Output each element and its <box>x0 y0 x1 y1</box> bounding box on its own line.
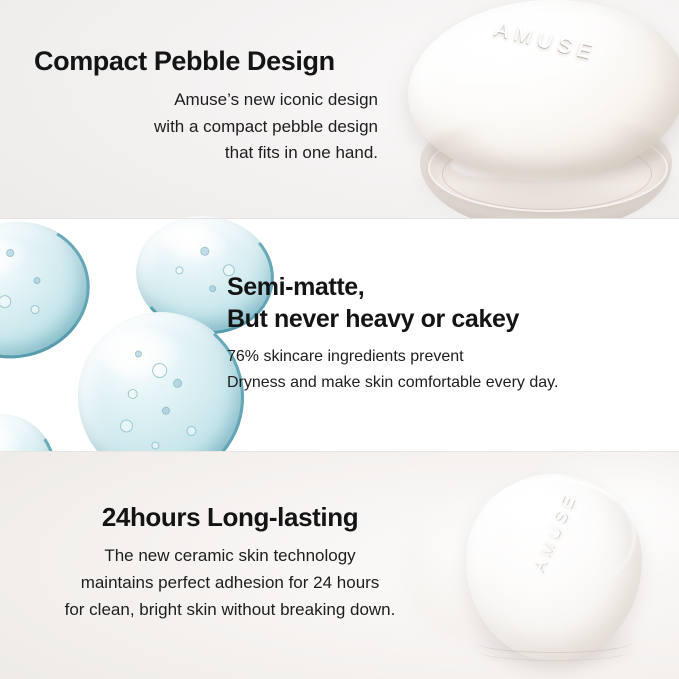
panel-1-body: Amuse’s new iconic design with a compact… <box>34 87 378 167</box>
cushion-compact-upright-image: AMUSE <box>466 474 642 660</box>
panel-divider-1 <box>0 218 679 219</box>
compact-lid-shadow-band <box>428 120 666 176</box>
gel-bubble <box>127 388 138 399</box>
panel-divider-2 <box>0 451 679 452</box>
panel-1-headline: Compact Pebble Design <box>34 44 378 78</box>
panel-2-body-line-2: Dryness and make skin comfortable every … <box>227 370 667 396</box>
panel-2-body: 76% skincare ingredients prevent Dryness… <box>227 344 667 396</box>
product-detail-image: AMUSE Compact Pebble Design Amuse’s new … <box>0 0 679 679</box>
compact-seam-ring <box>476 640 632 661</box>
panel-3-body: The new ceramic skin technology maintain… <box>18 542 442 623</box>
panel-1-body-line-1: Amuse’s new iconic design <box>34 87 378 114</box>
panel-compact-pebble-design: AMUSE Compact Pebble Design Amuse’s new … <box>0 0 679 219</box>
panel-2-body-line-1: 76% skincare ingredients prevent <box>227 344 667 370</box>
cushion-compact-product-image: AMUSE <box>398 0 679 219</box>
panel-3-headline: 24hours Long-lasting <box>18 500 442 534</box>
panel-3-body-line-1: The new ceramic skin technology <box>18 542 442 569</box>
panel-2-copy: Semi-matte, But never heavy or cakey 76%… <box>227 271 667 396</box>
panel-2-headline-line-1: Semi-matte, <box>227 271 667 303</box>
panel-1-copy: Compact Pebble Design Amuse’s new iconic… <box>34 44 378 167</box>
panel-3-copy: 24hours Long-lasting The new ceramic ski… <box>18 500 442 623</box>
panel-3-body-line-2: maintains perfect adhesion for 24 hours <box>18 569 442 596</box>
panel-2-headline-line-2: But never heavy or cakey <box>227 303 667 335</box>
panel-3-body-line-3: for clean, bright skin without breaking … <box>18 596 442 623</box>
panel-1-body-line-3: that fits in one hand. <box>34 140 378 167</box>
panel-1-body-line-2: with a compact pebble design <box>34 114 378 141</box>
